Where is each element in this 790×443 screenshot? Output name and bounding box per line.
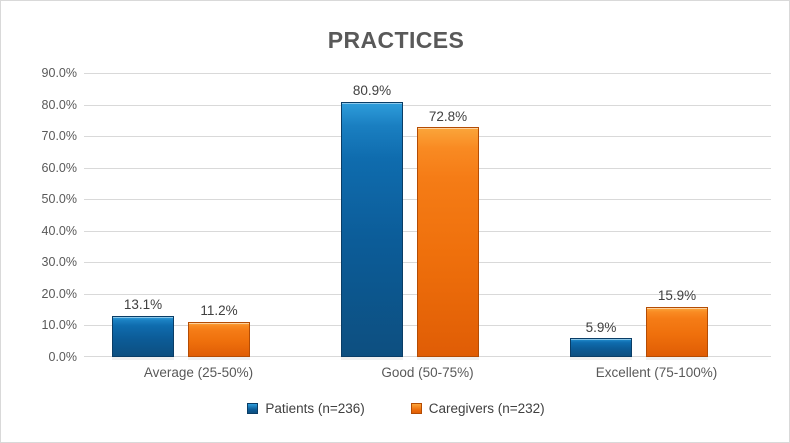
x-axis-label-excellent: Excellent (75-100%) — [542, 365, 771, 380]
gridline-80 — [84, 105, 771, 106]
bar-shadow — [646, 357, 708, 360]
chart-title: PRACTICES — [1, 27, 790, 54]
bar-patients-average[interactable] — [112, 316, 174, 357]
bar-caregivers-good[interactable] — [417, 127, 479, 357]
bar-patients-excellent[interactable] — [570, 338, 632, 357]
x-axis-category-labels: Average (25-50%) Good (50-75%) Excellent… — [84, 365, 771, 387]
bar-value-patients-good: 80.9% — [327, 83, 417, 98]
bar-value-caregivers-average: 11.2% — [174, 303, 264, 318]
legend-swatch-icon-caregivers — [411, 403, 422, 414]
bar-shadow — [188, 357, 250, 360]
y-axis-tick-50: 50.0% — [42, 192, 77, 206]
legend-item-caregivers[interactable]: Caregivers (n=232) — [411, 401, 545, 416]
bar-value-patients-excellent: 5.9% — [556, 320, 646, 335]
y-axis-tick-30: 30.0% — [42, 255, 77, 269]
y-axis-tick-60: 60.0% — [42, 161, 77, 175]
bar-shadow — [112, 357, 174, 360]
chart-legend: Patients (n=236) Caregivers (n=232) — [1, 401, 790, 416]
legend-label-patients: Patients (n=236) — [265, 401, 364, 416]
bar-patients-good[interactable] — [341, 102, 403, 357]
y-axis-tick-80: 80.0% — [42, 98, 77, 112]
legend-item-patients[interactable]: Patients (n=236) — [247, 401, 364, 416]
chart-container: PRACTICES 90.0% 80.0% 70.0% 60.0% 50.0% … — [0, 0, 790, 443]
x-axis-label-good: Good (50-75%) — [313, 365, 542, 380]
plot-area: 13.1% 11.2% 80.9% 72.8% 5.9% 15.9% — [84, 73, 771, 357]
gridline-90 — [84, 73, 771, 74]
bar-caregivers-average[interactable] — [188, 322, 250, 357]
y-axis-tick-labels: 90.0% 80.0% 70.0% 60.0% 50.0% 40.0% 30.0… — [11, 73, 77, 357]
y-axis-tick-10: 10.0% — [42, 318, 77, 332]
y-axis-tick-70: 70.0% — [42, 129, 77, 143]
bar-caregivers-excellent[interactable] — [646, 307, 708, 357]
y-axis-tick-90: 90.0% — [42, 66, 77, 80]
bar-shadow — [570, 357, 632, 360]
y-axis-tick-20: 20.0% — [42, 287, 77, 301]
bar-shadow — [417, 357, 479, 360]
bar-shadow — [341, 357, 403, 360]
bar-value-caregivers-excellent: 15.9% — [632, 288, 722, 303]
legend-label-caregivers: Caregivers (n=232) — [429, 401, 545, 416]
bar-value-caregivers-good: 72.8% — [403, 109, 493, 124]
x-axis-label-average: Average (25-50%) — [84, 365, 313, 380]
y-axis-tick-0: 0.0% — [49, 350, 78, 364]
legend-swatch-icon-patients — [247, 403, 258, 414]
y-axis-tick-40: 40.0% — [42, 224, 77, 238]
